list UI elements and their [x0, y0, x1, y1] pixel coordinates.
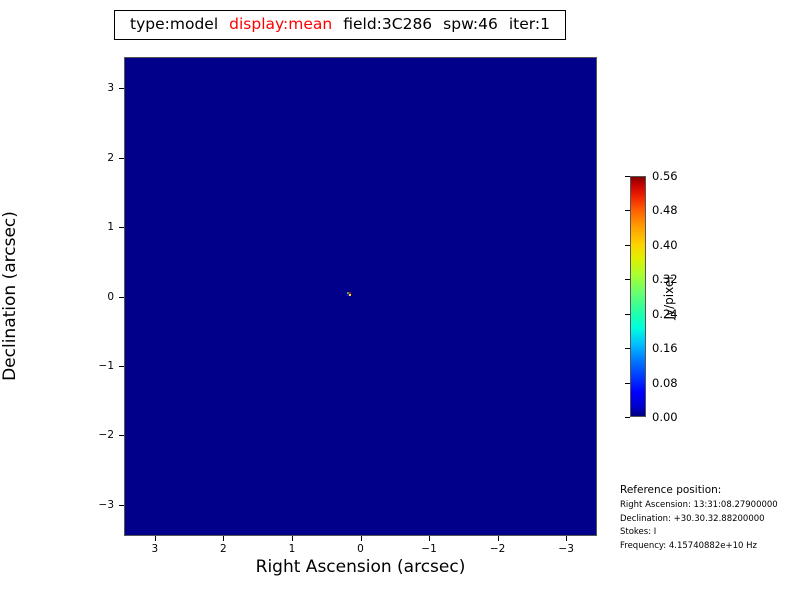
y-axis-tick-label: −1: [86, 360, 114, 372]
y-axis-tick: [119, 227, 124, 228]
colorbar-tick: [625, 210, 630, 211]
y-axis-tick: [119, 366, 124, 367]
colorbar-tick: [625, 383, 630, 384]
status-title-bar: type:model display:mean field:3C286 spw:…: [114, 10, 566, 40]
status-token-display: display:mean: [229, 17, 332, 33]
source-pixel-yellow: [349, 294, 351, 296]
y-axis-tick-label: −3: [86, 499, 114, 511]
x-axis-tick: [361, 536, 362, 541]
colorbar-tick: [625, 348, 630, 349]
colorbar-tick-label: 0.56: [652, 169, 678, 183]
point-source-marker: [347, 292, 351, 296]
x-axis-tick: [292, 536, 293, 541]
colorbar-tick: [625, 176, 630, 177]
reference-declination: Declination: +30.30.32.88200000: [620, 514, 800, 524]
colorbar-tick-label: 0.00: [652, 410, 678, 424]
colorbar-tick: [625, 245, 630, 246]
y-axis-tick: [119, 88, 124, 89]
status-token-type: type:model: [130, 17, 218, 33]
reference-position-block: Reference position: Right Ascension: 13:…: [620, 484, 800, 554]
y-axis-tick: [119, 435, 124, 436]
x-axis-tick: [566, 536, 567, 541]
colorbar[interactable]: [630, 176, 646, 417]
x-axis-tick: [155, 536, 156, 541]
y-axis-tick: [119, 505, 124, 506]
colorbar-tick: [625, 279, 630, 280]
x-axis-tick-label: 2: [220, 543, 227, 555]
x-axis-tick: [223, 536, 224, 541]
x-axis-tick-label: −3: [558, 543, 573, 555]
y-axis-tick-label: 2: [86, 152, 114, 164]
colorbar-tick-label: 0.08: [652, 376, 678, 390]
status-token-field: field:3C286: [343, 17, 432, 33]
y-axis-tick-label: −2: [86, 429, 114, 441]
y-axis-title: Declination (arcsec): [0, 146, 20, 446]
status-token-iter: iter:1: [509, 17, 550, 33]
x-axis-tick-label: 1: [289, 543, 296, 555]
colorbar-tick: [625, 417, 630, 418]
colorbar-tick: [625, 314, 630, 315]
x-axis-title: Right Ascension (arcsec): [124, 557, 597, 577]
x-axis-tick-label: −1: [421, 543, 436, 555]
y-axis-tick: [119, 297, 124, 298]
x-axis-tick-label: 0: [357, 543, 364, 555]
x-axis-tick: [429, 536, 430, 541]
status-token-spw: spw:46: [443, 17, 498, 33]
colorbar-unit-label: Jy/pixel: [662, 238, 676, 358]
reference-right-ascension: Right Ascension: 13:31:08.27900000: [620, 500, 800, 510]
y-axis-tick: [119, 158, 124, 159]
y-axis-tick-label: 3: [86, 82, 114, 94]
x-axis-tick-label: 3: [152, 543, 159, 555]
reference-frequency: Frequency: 4.15740882e+10 Hz: [620, 541, 800, 551]
x-axis-tick-label: −2: [490, 543, 505, 555]
colorbar-tick-label: 0.48: [652, 203, 678, 217]
y-axis-tick-label: 1: [86, 221, 114, 233]
colorbar-gradient: [630, 176, 646, 417]
reference-stokes: Stokes: I: [620, 527, 800, 537]
reference-position-heading: Reference position:: [620, 484, 800, 496]
y-axis-tick-label: 0: [86, 291, 114, 303]
x-axis-tick: [498, 536, 499, 541]
sky-image-plot[interactable]: [124, 57, 597, 536]
